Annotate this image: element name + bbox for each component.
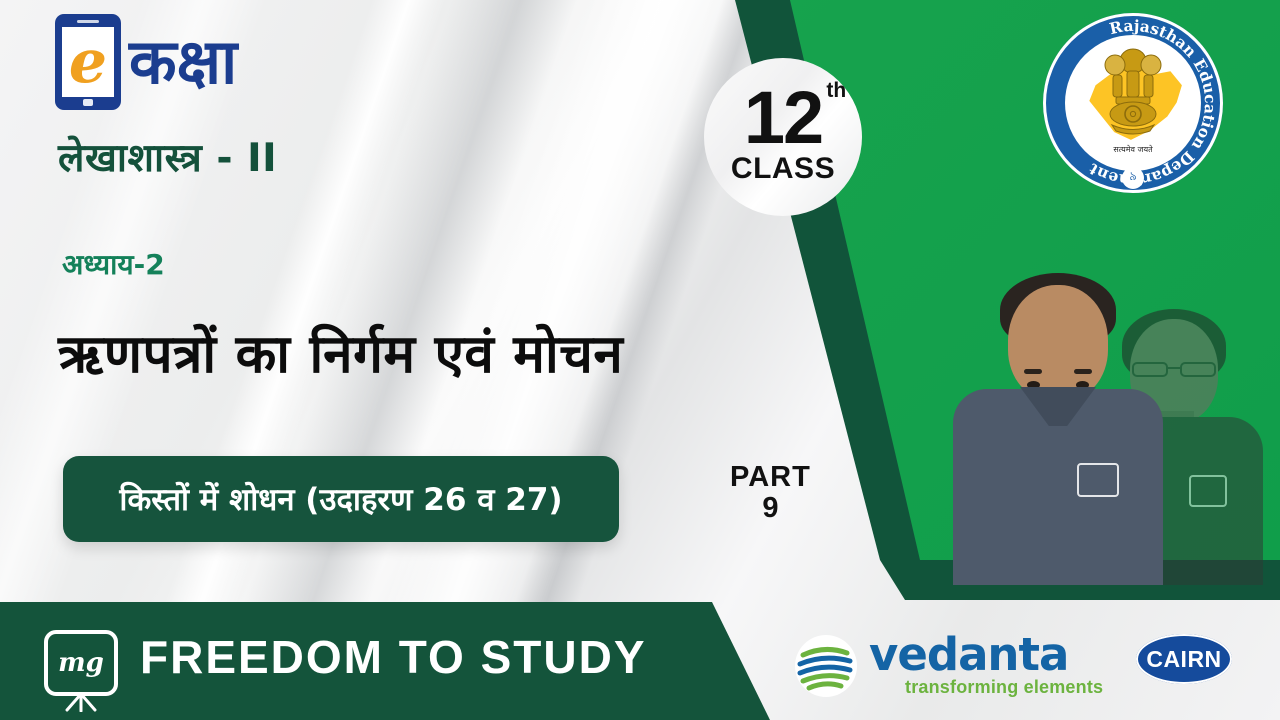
logo-wordmark: कक्षा xyxy=(129,31,237,93)
seal-motto: सत्यमेव जयते xyxy=(1065,144,1201,155)
instructor-photos xyxy=(930,225,1260,585)
mg-logo-text: mg xyxy=(58,648,104,678)
eyebrow-right xyxy=(1074,369,1092,374)
vedanta-logo: vedanta transforming elements xyxy=(795,634,1103,698)
face xyxy=(1008,285,1108,401)
class-number: 12th xyxy=(744,88,822,149)
vedanta-tagline: transforming elements xyxy=(905,677,1103,698)
vedanta-text: vedanta transforming elements xyxy=(869,634,1103,698)
vedanta-globe-icon xyxy=(795,635,857,697)
cairn-name: CAIRN xyxy=(1146,646,1221,673)
seal-inner-disc: सत्यमेव जयते xyxy=(1065,35,1201,171)
logo-letter-e: e xyxy=(69,32,107,92)
ashoka-lion-capital-icon xyxy=(1102,45,1164,139)
part-number: 9 xyxy=(730,493,811,524)
topic-badge: किस्तों में शोधन (उदाहरण 26 व 27) xyxy=(63,456,619,542)
cairn-logo: CAIRN xyxy=(1136,634,1232,684)
polo-shirt xyxy=(953,389,1163,585)
collar xyxy=(1020,387,1096,437)
page-title: ऋणपत्रों का निर्गम एवं मोचन xyxy=(58,315,623,388)
vedanta-name: vedanta xyxy=(869,634,1103,675)
eyebrow-left xyxy=(1024,369,1042,374)
thumbnail-canvas: 12th CLASS Rajasthan Education Departmen… xyxy=(0,0,1280,720)
ekaksha-logo[interactable]: e कक्षा xyxy=(55,14,237,110)
seal-bottom-badge: ৯ xyxy=(1122,167,1144,189)
rajasthan-education-department-seal: Rajasthan Education Department xyxy=(1043,13,1223,193)
tablet-screen: e xyxy=(62,27,114,97)
class-number-superscript: th xyxy=(826,82,846,99)
class-number-text: 12 xyxy=(744,76,822,159)
part-indicator: PART 9 xyxy=(730,462,811,525)
tablet-speaker-slot xyxy=(77,20,99,23)
tablet-home-button xyxy=(83,99,93,106)
tablet-icon: e xyxy=(55,14,121,110)
mg-logo: mg xyxy=(44,630,118,696)
chapter-label: अध्याय-2 xyxy=(62,245,165,283)
instructor-front xyxy=(952,267,1164,585)
subject-title: लेखाशास्त्र - II xyxy=(58,130,277,183)
part-label: PART xyxy=(730,462,811,493)
class-badge: 12th CLASS xyxy=(704,58,862,216)
footer-tagline: FREEDOM TO STUDY xyxy=(140,630,647,684)
mg-shirt-badge-front xyxy=(1077,463,1119,497)
easel-legs-icon xyxy=(59,694,103,712)
mg-shirt-badge-back xyxy=(1189,475,1227,507)
blackboard-icon: mg xyxy=(44,630,118,696)
